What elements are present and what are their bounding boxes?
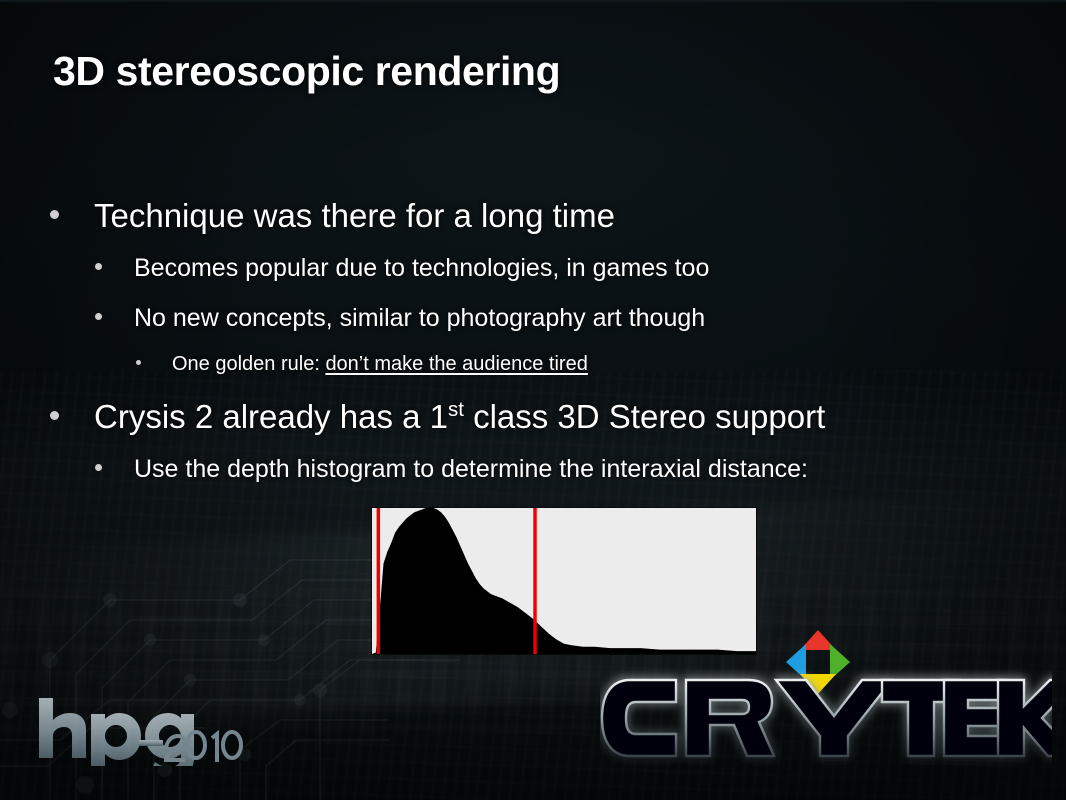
list-item: Use the depth histogram to determine the… — [95, 455, 808, 484]
list-item-label: Becomes popular due to technologies, in … — [134, 254, 709, 283]
bullet-marker-icon — [50, 411, 59, 420]
histogram-marker-line-1[interactable] — [377, 508, 380, 654]
crytek-logo-art — [600, 628, 1052, 788]
hpg-year-2010 — [166, 732, 241, 762]
list-item: Technique was there for a long time — [50, 197, 615, 235]
list-item: No new concepts, similar to photography … — [95, 304, 705, 333]
histogram-marker-line-2[interactable] — [533, 508, 536, 654]
list-item-label: No new concepts, similar to photography … — [134, 304, 705, 333]
hpg-2010-logo-art — [33, 694, 243, 766]
list-item: One golden rule: don’t make the audience… — [136, 353, 588, 376]
crysis-text-pre: Crysis 2 already has a 1 — [94, 398, 448, 435]
bullet-marker-icon — [95, 464, 102, 471]
golden-rule-prefix: One golden rule: — [172, 353, 325, 375]
list-item-label: Technique was there for a long time — [94, 197, 615, 235]
golden-rule-underlined: don’t make the audience tired — [325, 353, 587, 375]
list-item: Becomes popular due to technologies, in … — [95, 254, 709, 283]
bullet-marker-icon — [95, 263, 102, 270]
hpg-wordmark — [39, 698, 194, 766]
crysis-text-post: class 3D Stereo support — [464, 398, 825, 435]
list-item-label: Use the depth histogram to determine the… — [134, 455, 808, 484]
hpg-2010-logo — [33, 694, 243, 766]
crytek-logo — [600, 628, 1052, 788]
bullet-marker-icon — [50, 210, 59, 219]
slide-canvas: 3D stereoscopic rendering Technique was … — [0, 0, 1066, 800]
list-item: Crysis 2 already has a 1st class 3D Ster… — [50, 398, 825, 436]
list-item-label: One golden rule: don’t make the audience… — [172, 353, 588, 376]
ordinal-superscript: st — [448, 398, 464, 421]
list-item-label: Crysis 2 already has a 1st class 3D Ster… — [94, 398, 825, 436]
bullet-marker-icon — [136, 360, 141, 365]
bullet-marker-icon — [95, 313, 102, 320]
crytek-wordmark — [602, 680, 1052, 756]
